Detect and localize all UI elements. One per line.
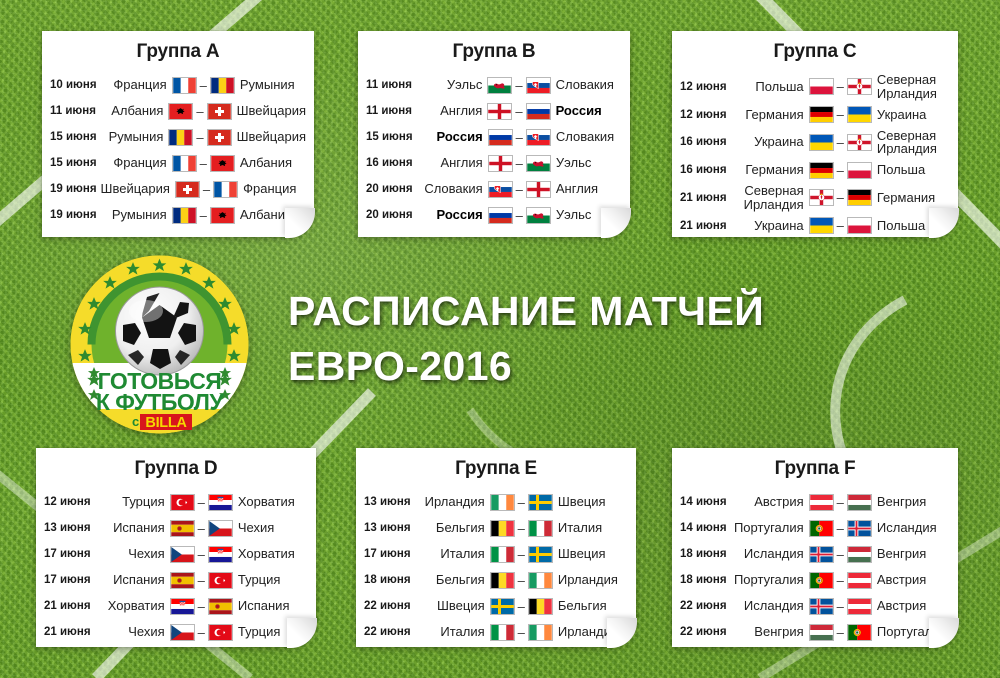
- match-row: 18 июняБельгия–Ирландия: [364, 567, 628, 593]
- match-row: 22 июняШвеция–Бельгия: [364, 593, 628, 619]
- versus-dash: –: [834, 495, 847, 510]
- match-date: 15 июня: [366, 131, 417, 143]
- match-date: 19 июня: [50, 209, 101, 221]
- flag-icon-ro: [210, 77, 235, 94]
- match-date: 15 июня: [50, 131, 101, 143]
- flag-icon-ni: [847, 78, 872, 95]
- flag-icon-en: [526, 181, 551, 198]
- flag-icon-hr: [208, 546, 233, 563]
- flag-icon-wa: [487, 77, 512, 94]
- match-row: 13 июняБельгия–Италия: [364, 515, 628, 541]
- flag-icon-is: [809, 598, 834, 615]
- match-date: 18 июня: [364, 574, 415, 586]
- home-team-name: Испания: [95, 521, 170, 535]
- away-team-name: Ирландия: [553, 625, 628, 639]
- away-team-name: Бельгия: [553, 599, 628, 613]
- match-row: 16 июняУкраина–Северная Ирландия: [680, 128, 950, 158]
- flag-icon-sk: [526, 129, 551, 146]
- home-team-name: Германия: [731, 163, 809, 177]
- home-team-name: Польша: [731, 80, 809, 94]
- flag-icon-ro: [168, 129, 193, 146]
- match-date: 22 июня: [680, 626, 731, 638]
- match-list: 12 июняПольша–Северная Ирландия12 июняГе…: [680, 72, 950, 239]
- match-row: 19 июняШвейцария–Франция: [50, 176, 306, 202]
- away-team-name: Исландия: [872, 521, 950, 535]
- sponsor-prefix: с: [132, 414, 139, 429]
- versus-dash: –: [515, 495, 528, 510]
- group-title: Группа D: [44, 458, 308, 480]
- versus-dash: –: [515, 625, 528, 640]
- flag-icon-pt: [809, 520, 834, 537]
- flag-icon-al: [210, 155, 235, 172]
- match-date: 16 июня: [680, 136, 731, 148]
- match-date: 22 июня: [364, 600, 415, 612]
- match-row: 22 июняИталия–Ирландия: [364, 619, 628, 645]
- home-team-name: Бельгия: [415, 573, 490, 587]
- home-team-name: Ирландия: [415, 495, 490, 509]
- away-team-name: Уэльс: [551, 156, 622, 170]
- match-row: 22 июняИсландия–Австрия: [680, 593, 950, 619]
- away-team-name: Франция: [238, 182, 306, 196]
- flag-icon-pl: [847, 217, 872, 234]
- group-title: Группа C: [680, 41, 950, 63]
- match-row: 13 июняИспания–Чехия: [44, 515, 308, 541]
- flag-icon-al: [168, 103, 193, 120]
- match-row: 12 июняТурция–Хорватия: [44, 489, 308, 515]
- group-card-a: Группа A 10 июняФранция–Румыния11 июняАл…: [42, 31, 314, 237]
- match-date: 17 июня: [364, 548, 415, 560]
- match-row: 17 июняИспания–Турция: [44, 567, 308, 593]
- match-row: 16 июняАнглия–Уэльс: [366, 150, 622, 176]
- home-team-name: Венгрия: [731, 625, 809, 639]
- away-team-name: Уэльс: [551, 208, 622, 222]
- away-team-name: Венгрия: [872, 547, 950, 561]
- match-date: 16 июня: [680, 164, 731, 176]
- flag-icon-hu: [847, 546, 872, 563]
- match-date: 21 июня: [44, 626, 95, 638]
- away-team-name: Англия: [551, 182, 622, 196]
- match-row: 17 июняИталия–Швеция: [364, 541, 628, 567]
- flag-icon-ru: [488, 207, 513, 224]
- flag-icon-de: [809, 162, 834, 179]
- flag-icon-ie: [490, 494, 515, 511]
- home-team-name: Украина: [731, 219, 809, 233]
- match-date: 13 июня: [364, 522, 415, 534]
- flag-icon-it: [490, 546, 515, 563]
- home-team-name: Швейцария: [101, 182, 175, 196]
- away-team-name: Украина: [872, 108, 950, 122]
- away-team-name: Северная Ирландия: [872, 129, 950, 157]
- versus-dash: –: [834, 547, 847, 562]
- versus-dash: –: [834, 107, 847, 122]
- home-team-name: Чехия: [95, 547, 170, 561]
- flag-icon-de: [847, 189, 872, 206]
- flag-icon-en: [487, 103, 512, 120]
- home-team-name: Португалия: [731, 521, 809, 535]
- home-team-name: Италия: [415, 625, 490, 639]
- match-date: 22 июня: [364, 626, 415, 638]
- versus-dash: –: [512, 104, 525, 119]
- versus-dash: –: [834, 135, 847, 150]
- home-team-name: Румыния: [101, 208, 172, 222]
- match-row: 21 июняЧехия–Турция: [44, 619, 308, 645]
- match-date: 15 июня: [50, 157, 101, 169]
- versus-dash: –: [834, 190, 847, 205]
- flag-icon-ch: [207, 103, 232, 120]
- flag-icon-be: [528, 598, 553, 615]
- match-row: 10 июняФранция–Румыния: [50, 72, 306, 98]
- home-team-name: Англия: [417, 156, 488, 170]
- group-card-c: Группа C 12 июняПольша–Северная Ирландия…: [672, 31, 958, 237]
- flag-icon-cz: [170, 546, 195, 563]
- match-row: 14 июняПортугалия–Исландия: [680, 515, 950, 541]
- flag-icon-ua: [809, 134, 834, 151]
- versus-dash: –: [513, 130, 526, 145]
- versus-dash: –: [513, 182, 526, 197]
- home-team-name: Уэльс: [416, 78, 487, 92]
- flag-icon-tr: [170, 494, 195, 511]
- away-team-name: Турция: [233, 573, 308, 587]
- match-list: 13 июняИрландия–Швеция13 июняБельгия–Ита…: [364, 489, 628, 645]
- match-row: 14 июняАвстрия–Венгрия: [680, 489, 950, 515]
- versus-dash: –: [197, 208, 210, 223]
- away-team-name: Австрия: [872, 573, 950, 587]
- versus-dash: –: [195, 521, 208, 536]
- home-team-name: Франция: [101, 156, 172, 170]
- match-row: 21 июняСеверная Ирландия–Германия: [680, 183, 950, 213]
- home-team-name: Россия: [417, 208, 488, 222]
- match-row: 11 июняАнглия–Россия: [366, 98, 622, 124]
- match-row: 12 июняПольша–Северная Ирландия: [680, 72, 950, 102]
- flag-icon-ie: [528, 572, 553, 589]
- versus-dash: –: [513, 156, 526, 171]
- flag-icon-ru: [488, 129, 513, 146]
- versus-dash: –: [515, 573, 528, 588]
- flag-icon-ro: [172, 207, 197, 224]
- group-card-d: Группа D 12 июняТурция–Хорватия13 июняИс…: [36, 448, 316, 647]
- away-team-name: Румыния: [235, 78, 306, 92]
- home-team-name: Франция: [101, 78, 172, 92]
- match-date: 17 июня: [44, 548, 95, 560]
- match-date: 10 июня: [50, 79, 101, 91]
- away-team-name: Венгрия: [872, 495, 950, 509]
- away-team-name: Ирландия: [553, 573, 628, 587]
- flag-icon-tr: [208, 572, 233, 589]
- match-date: 12 июня: [680, 109, 731, 121]
- versus-dash: –: [834, 599, 847, 614]
- versus-dash: –: [834, 625, 847, 640]
- match-date: 21 июня: [44, 600, 95, 612]
- flag-icon-al: [210, 207, 235, 224]
- versus-dash: –: [515, 599, 528, 614]
- flag-icon-pl: [847, 162, 872, 179]
- match-row: 15 июняРумыния–Швейцария: [50, 124, 306, 150]
- flag-icon-ni: [847, 134, 872, 151]
- versus-dash: –: [195, 599, 208, 614]
- flag-icon-cz: [170, 624, 195, 641]
- match-row: 18 июняИсландия–Венгрия: [680, 541, 950, 567]
- away-team-name: Швейцария: [232, 130, 306, 144]
- group-card-f: Группа F 14 июняАвстрия–Венгрия14 июняПо…: [672, 448, 958, 647]
- group-title: Группа B: [366, 41, 622, 63]
- flag-icon-ie: [528, 624, 553, 641]
- home-team-name: Португалия: [731, 573, 809, 587]
- away-team-name: Турция: [233, 625, 308, 639]
- match-date: 16 июня: [366, 157, 417, 169]
- home-team-name: Исландия: [731, 599, 809, 613]
- group-title: Группа F: [680, 458, 950, 480]
- versus-dash: –: [197, 78, 210, 93]
- home-team-name: Словакия: [417, 182, 488, 196]
- away-team-name: Чехия: [233, 521, 308, 535]
- flag-icon-is: [847, 520, 872, 537]
- flag-icon-sk: [488, 181, 513, 198]
- match-list: 14 июняАвстрия–Венгрия14 июняПортугалия–…: [680, 489, 950, 645]
- flag-icon-cz: [208, 520, 233, 537]
- home-team-name: Украина: [731, 135, 809, 149]
- match-row: 17 июняЧехия–Хорватия: [44, 541, 308, 567]
- flag-icon-ni: [809, 189, 834, 206]
- match-row: 15 июняФранция–Албания: [50, 150, 306, 176]
- flag-icon-es: [208, 598, 233, 615]
- match-date: 22 июня: [680, 600, 731, 612]
- group-title: Группа A: [50, 41, 306, 63]
- home-team-name: Германия: [731, 108, 809, 122]
- flag-icon-pl: [809, 78, 834, 95]
- match-row: 13 июняИрландия–Швеция: [364, 489, 628, 515]
- versus-dash: –: [834, 218, 847, 233]
- flag-icon-hu: [809, 624, 834, 641]
- versus-dash: –: [193, 130, 206, 145]
- match-date: 18 июня: [680, 548, 731, 560]
- match-row: 20 июняСловакия–Англия: [366, 176, 622, 202]
- home-team-name: Австрия: [731, 495, 809, 509]
- versus-dash: –: [513, 208, 526, 223]
- match-date: 20 июня: [366, 183, 417, 195]
- home-team-name: Хорватия: [95, 599, 170, 613]
- home-team-name: Швеция: [415, 599, 490, 613]
- versus-dash: –: [200, 182, 213, 197]
- versus-dash: –: [195, 495, 208, 510]
- match-date: 12 июня: [44, 496, 95, 508]
- flag-icon-ch: [175, 181, 200, 198]
- flag-icon-ch: [207, 129, 232, 146]
- away-team-name: Швеция: [553, 547, 628, 561]
- away-team-name: Швейцария: [232, 104, 306, 118]
- soccer-ball-icon: [116, 287, 204, 375]
- group-card-e: Группа E 13 июняИрландия–Швеция13 июняБе…: [356, 448, 636, 647]
- headline-line-2: ЕВРО-2016: [288, 339, 764, 394]
- away-team-name: Австрия: [872, 599, 950, 613]
- match-row: 22 июняВенгрия–Португалия: [680, 619, 950, 645]
- away-team-name: Албания: [235, 156, 306, 170]
- flag-icon-se: [528, 546, 553, 563]
- away-team-name: Германия: [872, 191, 950, 205]
- away-team-name: Албания: [235, 208, 306, 222]
- flag-icon-se: [490, 598, 515, 615]
- match-date: 13 июня: [364, 496, 415, 508]
- versus-dash: –: [834, 79, 847, 94]
- away-team-name: Польша: [872, 163, 950, 177]
- headline-line-1: РАСПИСАНИЕ МАТЧЕЙ: [288, 284, 764, 339]
- flag-icon-sk: [526, 77, 551, 94]
- versus-dash: –: [515, 521, 528, 536]
- versus-dash: –: [197, 156, 210, 171]
- flag-icon-ua: [847, 106, 872, 123]
- match-date: 21 июня: [680, 192, 731, 204]
- flag-icon-ua: [809, 217, 834, 234]
- match-date: 14 июня: [680, 496, 731, 508]
- versus-dash: –: [834, 521, 847, 536]
- flag-icon-fr: [213, 181, 238, 198]
- flag-icon-se: [528, 494, 553, 511]
- away-team-name: Хорватия: [233, 495, 308, 509]
- match-date: 11 июня: [50, 105, 100, 117]
- billa-sponsor-badge: с BILLA: [132, 414, 192, 431]
- away-team-name: Северная Ирландия: [872, 73, 950, 101]
- match-row: 21 июняХорватия–Испания: [44, 593, 308, 619]
- home-team-name: Англия: [416, 104, 487, 118]
- versus-dash: –: [512, 78, 525, 93]
- match-list: 11 июняУэльс–Словакия11 июняАнглия–Росси…: [366, 72, 622, 228]
- flag-icon-es: [170, 572, 195, 589]
- flag-icon-ru: [526, 103, 551, 120]
- versus-dash: –: [834, 163, 847, 178]
- home-team-name: Румыния: [101, 130, 169, 144]
- match-date: 19 июня: [50, 183, 101, 195]
- flag-icon-fr: [172, 155, 197, 172]
- home-team-name: Испания: [95, 573, 170, 587]
- home-team-name: Исландия: [731, 547, 809, 561]
- versus-dash: –: [515, 547, 528, 562]
- versus-dash: –: [193, 104, 206, 119]
- sponsor-brand: BILLA: [145, 415, 187, 431]
- away-team-name: Словакия: [551, 130, 622, 144]
- away-team-name: Хорватия: [233, 547, 308, 561]
- match-date: 11 июня: [366, 79, 416, 91]
- billa-football-logo: ГОТОВЬСЯ К ФУТБОЛУ с BILLA: [68, 253, 251, 436]
- match-date: 21 июня: [680, 220, 731, 232]
- home-team-name: Бельгия: [415, 521, 490, 535]
- flag-icon-wa: [526, 155, 551, 172]
- home-team-name: Чехия: [95, 625, 170, 639]
- match-row: 11 июняАлбания–Швейцария: [50, 98, 306, 124]
- match-list: 12 июняТурция–Хорватия13 июняИспания–Чех…: [44, 489, 308, 645]
- page-title: РАСПИСАНИЕ МАТЧЕЙ ЕВРО-2016: [288, 284, 764, 394]
- versus-dash: –: [834, 573, 847, 588]
- away-team-name: Словакия: [551, 78, 622, 92]
- away-team-name: Польша: [872, 219, 950, 233]
- match-date: 14 июня: [680, 522, 731, 534]
- flag-icon-it: [528, 520, 553, 537]
- away-team-name: Испания: [233, 599, 308, 613]
- match-date: 13 июня: [44, 522, 95, 534]
- home-team-name: Россия: [417, 130, 488, 144]
- flag-icon-hu: [847, 494, 872, 511]
- match-date: 20 июня: [366, 209, 417, 221]
- match-date: 11 июня: [366, 105, 416, 117]
- flag-icon-hr: [208, 494, 233, 511]
- flag-icon-tr: [208, 624, 233, 641]
- flag-icon-de: [809, 106, 834, 123]
- match-row: 19 июняРумыния–Албания: [50, 202, 306, 228]
- match-row: 16 июняГермания–Польша: [680, 157, 950, 183]
- match-row: 15 июняРоссия–Словакия: [366, 124, 622, 150]
- match-row: 12 июняГермания–Украина: [680, 102, 950, 128]
- flag-icon-fr: [172, 77, 197, 94]
- flag-icon-hr: [170, 598, 195, 615]
- group-card-b: Группа B 11 июняУэльс–Словакия11 июняАнг…: [358, 31, 630, 237]
- flag-icon-at: [847, 598, 872, 615]
- flag-icon-wa: [526, 207, 551, 224]
- match-row: 20 июняРоссия–Уэльс: [366, 202, 622, 228]
- flag-icon-at: [809, 494, 834, 511]
- match-row: 18 июняПортугалия–Австрия: [680, 567, 950, 593]
- match-row: 21 июняУкраина–Польша: [680, 213, 950, 239]
- home-team-name: Италия: [415, 547, 490, 561]
- match-list: 10 июняФранция–Румыния11 июняАлбания–Шве…: [50, 72, 306, 228]
- flag-icon-pt: [847, 624, 872, 641]
- flag-icon-pt: [809, 572, 834, 589]
- home-team-name: Албания: [100, 104, 168, 118]
- match-date: 12 июня: [680, 81, 731, 93]
- flag-icon-is: [809, 546, 834, 563]
- flag-icon-es: [170, 520, 195, 537]
- away-team-name: Россия: [551, 104, 622, 118]
- versus-dash: –: [195, 547, 208, 562]
- flag-icon-en: [488, 155, 513, 172]
- versus-dash: –: [195, 625, 208, 640]
- match-date: 18 июня: [680, 574, 731, 586]
- flag-icon-at: [847, 572, 872, 589]
- away-team-name: Швеция: [553, 495, 628, 509]
- match-row: 11 июняУэльс–Словакия: [366, 72, 622, 98]
- home-team-name: Турция: [95, 495, 170, 509]
- match-date: 17 июня: [44, 574, 95, 586]
- flag-icon-be: [490, 572, 515, 589]
- versus-dash: –: [195, 573, 208, 588]
- logo-slogan-line-2: К ФУТБОЛУ: [96, 389, 225, 415]
- home-team-name: Северная Ирландия: [731, 184, 809, 212]
- flag-icon-it: [490, 624, 515, 641]
- away-team-name: Италия: [553, 521, 628, 535]
- flag-icon-be: [490, 520, 515, 537]
- group-title: Группа E: [364, 458, 628, 480]
- away-team-name: Португалия: [872, 625, 950, 639]
